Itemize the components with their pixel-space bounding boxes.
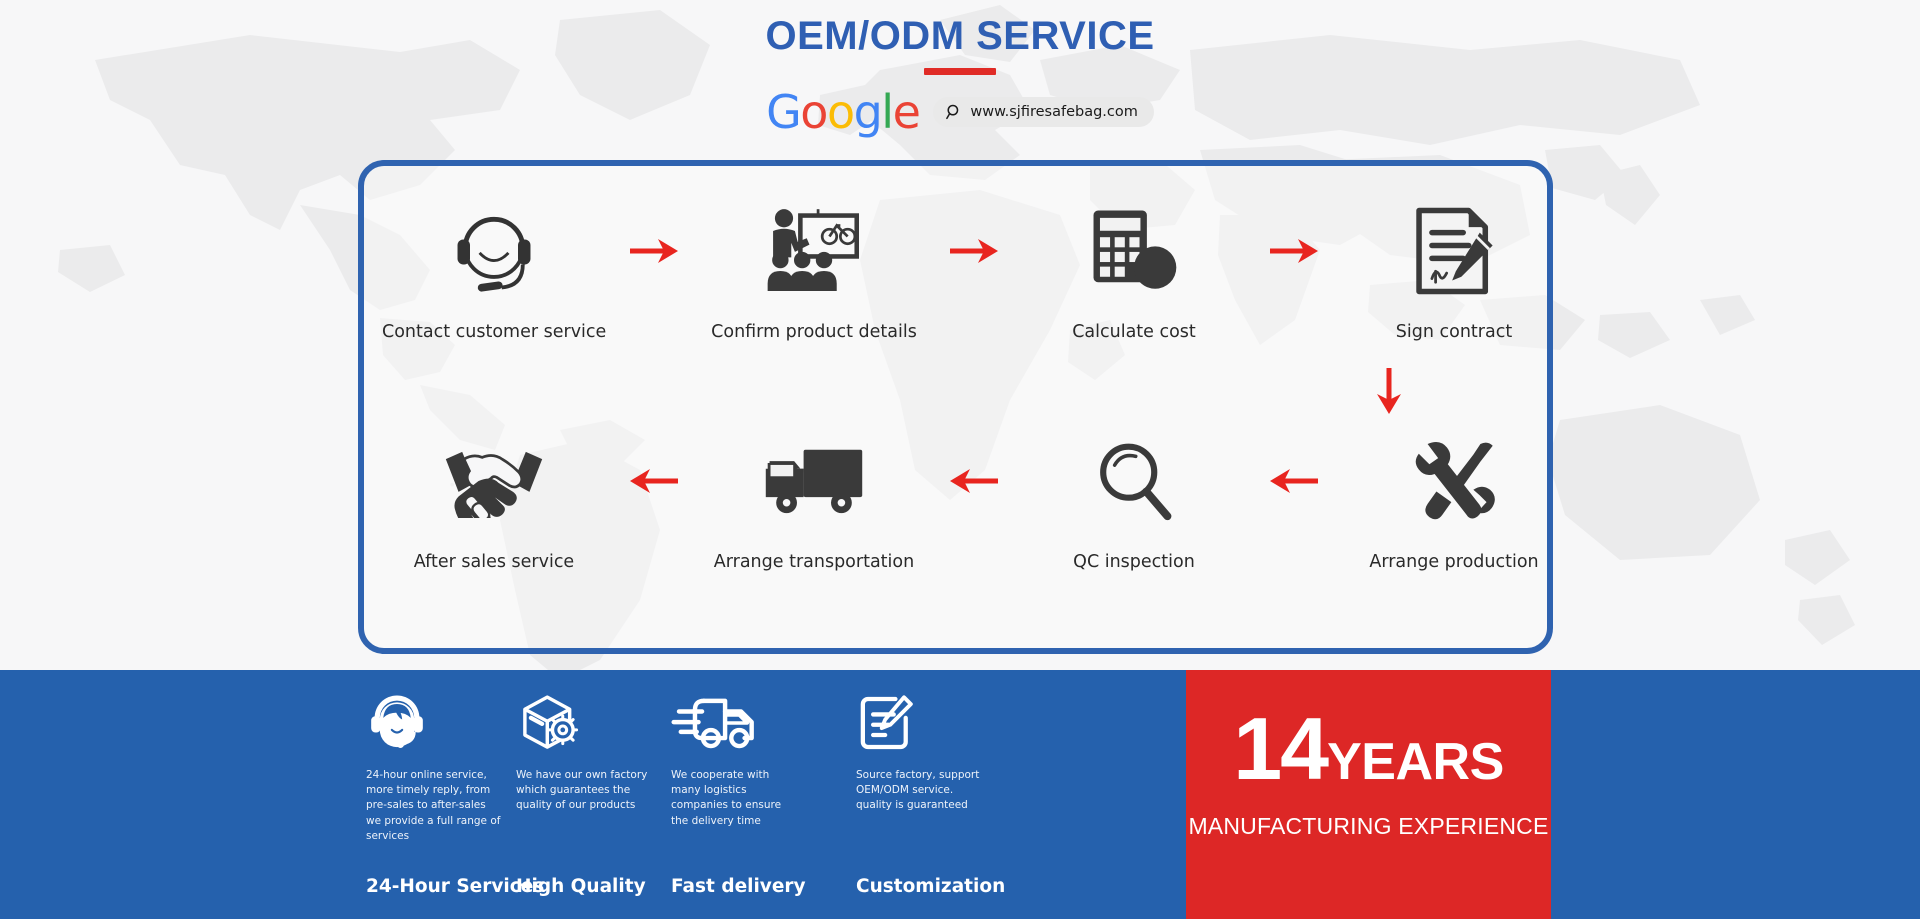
support-agent-icon	[366, 688, 516, 754]
tools-icon	[1342, 422, 1566, 540]
feature-description: 24-hour online service, more timely repl…	[366, 768, 501, 844]
flow-step-label: Sign contract	[1342, 322, 1566, 342]
feature-24-hour-services[interactable]: 24-hour online service, more timely repl…	[366, 670, 516, 919]
oem-flow-card: Contact customer service	[358, 160, 1553, 654]
flow-step-label: After sales service	[382, 552, 606, 572]
arrow-left-icon	[1246, 422, 1342, 540]
page-title: OEM/ODM SERVICE	[0, 0, 1920, 58]
presentation-icon	[702, 192, 926, 310]
flow-row-2: After sales service	[364, 422, 1547, 572]
years-word: YEARS	[1327, 740, 1504, 784]
google-letter-o1: o	[800, 85, 827, 139]
feature-fast-delivery[interactable]: We cooperate with many logistics compani…	[671, 670, 856, 919]
google-letter-g1: G	[766, 85, 800, 139]
arrow-left-icon	[926, 422, 1022, 540]
magnifier-icon	[1022, 422, 1246, 540]
google-letter-e: e	[893, 85, 920, 139]
flow-step-label: Contact customer service	[382, 322, 606, 342]
fast-truck-icon	[671, 688, 856, 754]
feature-title: Customization	[856, 876, 1005, 897]
feature-customization[interactable]: Source factory, support OEM/ODM service.…	[856, 670, 1056, 919]
google-logo: Google	[766, 89, 919, 135]
arrow-left-icon	[606, 422, 702, 540]
contract-sign-icon	[1342, 192, 1566, 310]
feature-description: We have our own factory which guarantees…	[516, 768, 651, 814]
google-letter-o2: o	[827, 85, 854, 139]
calculator-icon	[1022, 192, 1246, 310]
flow-step-after-sales-service[interactable]: After sales service	[382, 422, 606, 572]
flow-step-arrange-production[interactable]: Arrange production	[1342, 422, 1566, 572]
arrow-down-icon	[1374, 366, 1404, 421]
flow-step-calculate-cost[interactable]: Calculate cost	[1022, 192, 1246, 342]
flow-step-contact-customer-service[interactable]: Contact customer service	[382, 192, 606, 342]
google-letter-g2: g	[854, 85, 882, 139]
arrow-right-icon	[1246, 192, 1342, 310]
flow-step-label: Calculate cost	[1022, 322, 1246, 342]
search-url-text: www.sjfiresafebag.com	[970, 104, 1137, 120]
handshake-icon	[382, 422, 606, 540]
feature-title: High Quality	[516, 876, 646, 897]
years-experience-panel: 14 YEARS MANUFACTURING EXPERIENCE	[1186, 670, 1551, 919]
arrow-right-icon	[606, 192, 702, 310]
flow-row-1: Contact customer service	[364, 192, 1547, 342]
search-icon	[945, 103, 963, 121]
feature-high-quality[interactable]: We have our own factory which guarantees…	[516, 670, 671, 919]
headset-icon	[382, 192, 606, 310]
feature-list: 24-hour online service, more timely repl…	[366, 670, 1186, 919]
flow-step-label: QC inspection	[1022, 552, 1246, 572]
bottom-banner: 24-hour online service, more timely repl…	[0, 670, 1920, 919]
flow-step-label: Arrange production	[1342, 552, 1566, 572]
flow-step-sign-contract[interactable]: Sign contract	[1342, 192, 1566, 342]
title-underline	[924, 68, 996, 75]
feature-title: Fast delivery	[671, 876, 806, 897]
flow-step-arrange-transportation[interactable]: Arrange transportation	[702, 422, 926, 572]
years-headline: 14 YEARS	[1186, 670, 1551, 787]
flow-step-qc-inspection[interactable]: QC inspection	[1022, 422, 1246, 572]
feature-description: Source factory, support OEM/ODM service.…	[856, 768, 982, 814]
arrow-right-icon	[926, 192, 1022, 310]
truck-icon	[702, 422, 926, 540]
feature-description: We cooperate with many logistics compani…	[671, 768, 801, 829]
years-subtitle: MANUFACTURING EXPERIENCE	[1186, 813, 1551, 840]
flow-step-confirm-product-details[interactable]: Confirm product details	[702, 192, 926, 342]
box-gear-icon	[516, 688, 671, 754]
google-search-row: Google www.sjfiresafebag.com	[0, 89, 1920, 135]
google-letter-l: l	[881, 85, 892, 139]
document-pencil-icon	[856, 688, 1056, 754]
years-number: 14	[1233, 712, 1327, 787]
flow-step-label: Confirm product details	[702, 322, 926, 342]
page-header: OEM/ODM SERVICE Google www.sjfiresafebag…	[0, 0, 1920, 135]
flow-step-label: Arrange transportation	[702, 552, 926, 572]
search-bar[interactable]: www.sjfiresafebag.com	[933, 97, 1153, 127]
